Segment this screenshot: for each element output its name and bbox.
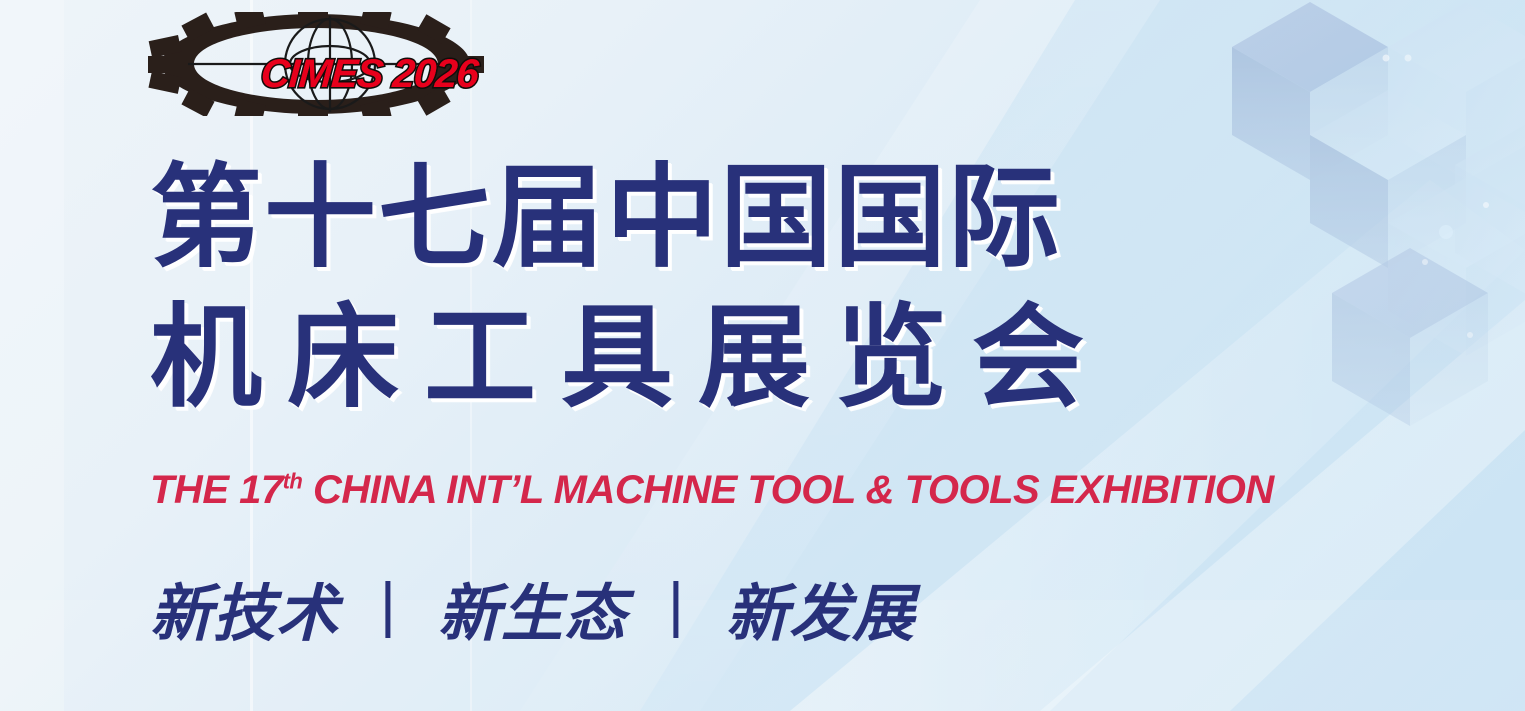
tagline-item-1: 新技术 xyxy=(150,580,339,649)
subtitle-ordinal: th xyxy=(283,469,303,494)
headline-block: 第十七届中国国际 机床工具展览会 xyxy=(150,148,1250,428)
tagline-block: 新技术丨新生态丨新发展 xyxy=(150,578,915,652)
subtitle-prefix: THE 17 xyxy=(150,468,283,512)
english-subtitle: THE 17th CHINA INT’L MACHINE TOOL & TOOL… xyxy=(150,466,1274,514)
subtitle-rest: CHINA INT’L MACHINE TOOL & TOOLS EXHIBIT… xyxy=(302,468,1273,512)
headline-line-1: 第十七届中国国际 xyxy=(150,148,1250,288)
tagline-item-2: 新生态 xyxy=(438,580,627,649)
exhibition-banner: CIMES 2026 CIMES 2026 第十七届中国国际 机床工具展览会 T… xyxy=(0,0,1525,711)
tagline-item-3: 新发展 xyxy=(726,580,915,649)
headline-line-2: 机床工具展览会 xyxy=(150,288,1250,428)
tagline-separator-2: 丨 xyxy=(627,576,726,650)
cimes-logo[interactable]: CIMES 2026 CIMES 2026 xyxy=(148,12,484,116)
tagline-separator-1: 丨 xyxy=(339,576,438,650)
cimes-wordmark: CIMES 2026 xyxy=(259,52,479,97)
